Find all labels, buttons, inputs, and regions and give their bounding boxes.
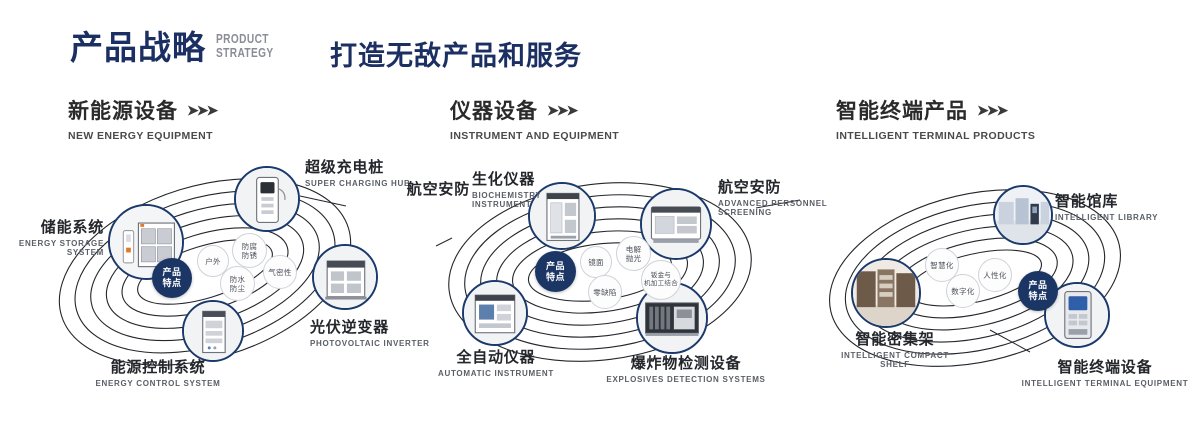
tag-anticorrosion[interactable]: 防腐 防锈 xyxy=(232,233,267,268)
caption-cn: 生化仪器 xyxy=(472,168,564,189)
feature-bubble-line2: 特点 xyxy=(162,278,181,289)
node-photovoltaic-inverter[interactable] xyxy=(312,244,378,310)
feature-bubble-line1: 产品 xyxy=(546,261,565,272)
caption-intelligent-terminal-equipment: 智能终端设备 INTELLIGENT TERMINAL EQUIPMENT xyxy=(1010,356,1200,388)
caption-en: ENERGY STORAGE SYSTEM xyxy=(0,239,104,257)
node-advanced-personnel-screening[interactable] xyxy=(640,188,712,260)
tag-label: 户外 xyxy=(205,257,221,266)
caption-en: INTELLIGENT COMPACT SHELF xyxy=(800,351,990,369)
feature-bubble-line1: 产品 xyxy=(1028,280,1047,291)
compact-shelf-icon xyxy=(853,260,919,326)
feature-bubble-cluster-2[interactable]: 产品 特点 xyxy=(535,251,576,292)
tag-label: 钣金与 机加工结合 xyxy=(644,272,678,288)
caption-en: ENERGY CONTROL SYSTEM xyxy=(52,379,264,388)
caption-en: ADVANCED PERSONNEL SCREENING xyxy=(718,199,838,217)
caption-cn: 航空安防 xyxy=(396,178,470,199)
tag-label: 数字化 xyxy=(951,287,974,296)
feature-bubble-line2: 特点 xyxy=(546,272,565,283)
tag-zero-defect[interactable]: 零缺陷 xyxy=(588,275,622,309)
inverter-cabinet-icon xyxy=(314,246,376,308)
feature-bubble-line2: 特点 xyxy=(1028,291,1047,302)
tag-label: 镜面 xyxy=(588,258,604,267)
tag-airtightness[interactable]: 气密性 xyxy=(263,255,297,289)
tag-humanized[interactable]: 人性化 xyxy=(978,258,1012,292)
caption-biochemistry-instrument: 生化仪器 BIOCHEMISTRY INSTRUMENT xyxy=(472,168,564,209)
caption-en: INTELLIGENT TERMINAL EQUIPMENT xyxy=(1010,379,1200,388)
tag-label: 防腐 防锈 xyxy=(242,242,258,260)
feature-bubble-line1: 产品 xyxy=(162,267,181,278)
tag-digitalized[interactable]: 数字化 xyxy=(946,274,980,308)
control-cabinet-icon xyxy=(184,302,242,360)
caption-energy-storage: 储能系统 ENERGY STORAGE SYSTEM xyxy=(0,216,104,257)
caption-cn: 光伏逆变器 xyxy=(310,316,480,337)
node-automatic-instrument[interactable] xyxy=(462,280,528,346)
tag-label: 电解 抛光 xyxy=(626,245,642,263)
node-energy-control-system[interactable] xyxy=(182,300,244,362)
feature-bubble-cluster-3[interactable]: 产品 特点 xyxy=(1018,271,1058,311)
caption-cn: 储能系统 xyxy=(0,216,104,237)
caption-intelligent-compact-shelf: 智能密集架 INTELLIGENT COMPACT SHELF xyxy=(800,328,990,369)
tag-waterproof-dustproof[interactable]: 防水 防尘 xyxy=(220,266,255,301)
caption-cn: 航空安防 xyxy=(718,176,838,197)
caption-automatic-instrument: 全自动仪器 AUTOMATIC INSTRUMENT xyxy=(420,346,572,378)
node-intelligent-library[interactable] xyxy=(993,185,1053,245)
caption-en: INTELLIGENT LIBRARY xyxy=(1055,213,1195,222)
caption-security-gate: 航空安防 xyxy=(396,178,470,201)
feature-bubble-cluster-1[interactable]: 产品 特点 xyxy=(152,258,192,298)
caption-explosives-detection: 爆炸物检测设备 EXPLOSIVES DETECTION SYSTEMS xyxy=(600,352,772,384)
screening-machine-icon xyxy=(642,190,710,258)
tag-label: 零缺陷 xyxy=(593,288,616,297)
tag-mirror-finish[interactable]: 镜面 xyxy=(580,246,612,278)
caption-cn: 智能馆库 xyxy=(1055,190,1195,211)
caption-cn: 全自动仪器 xyxy=(420,346,572,367)
caption-en: AUTOMATIC INSTRUMENT xyxy=(420,369,572,378)
node-intelligent-compact-shelf[interactable] xyxy=(851,258,921,328)
caption-intelligent-library: 智能馆库 INTELLIGENT LIBRARY xyxy=(1055,190,1195,222)
tag-label: 智慧化 xyxy=(930,261,953,270)
charging-pile-icon xyxy=(236,168,298,230)
node-super-charging-hub[interactable] xyxy=(234,166,300,232)
caption-cn: 爆炸物检测设备 xyxy=(600,352,772,373)
caption-cn: 超级充电桩 xyxy=(305,156,455,177)
tag-sheetmetal-machining[interactable]: 钣金与 机加工结合 xyxy=(641,260,681,300)
tag-label: 防水 防尘 xyxy=(230,275,246,293)
product-strategy-infographic: 产品战略 PRODUCT STRATEGY 打造无敌产品和服务 新能源设备 ➤➤… xyxy=(0,0,1200,422)
smart-library-icon xyxy=(995,187,1051,243)
caption-photovoltaic-inverter: 光伏逆变器 PHOTOVOLTAIC INVERTER xyxy=(310,316,480,348)
caption-cn: 智能终端设备 xyxy=(1010,356,1200,377)
tag-label: 气密性 xyxy=(268,268,291,277)
automatic-instrument-icon xyxy=(464,282,526,344)
caption-cn: 智能密集架 xyxy=(800,328,990,349)
caption-cn: 能源控制系统 xyxy=(52,356,264,377)
caption-en: BIOCHEMISTRY INSTRUMENT xyxy=(472,191,564,209)
caption-en: EXPLOSIVES DETECTION SYSTEMS xyxy=(600,375,772,384)
caption-advanced-personnel-screening: 航空安防 ADVANCED PERSONNEL SCREENING xyxy=(718,176,838,217)
caption-energy-control-system: 能源控制系统 ENERGY CONTROL SYSTEM xyxy=(52,356,264,388)
tag-label: 人性化 xyxy=(983,271,1006,280)
